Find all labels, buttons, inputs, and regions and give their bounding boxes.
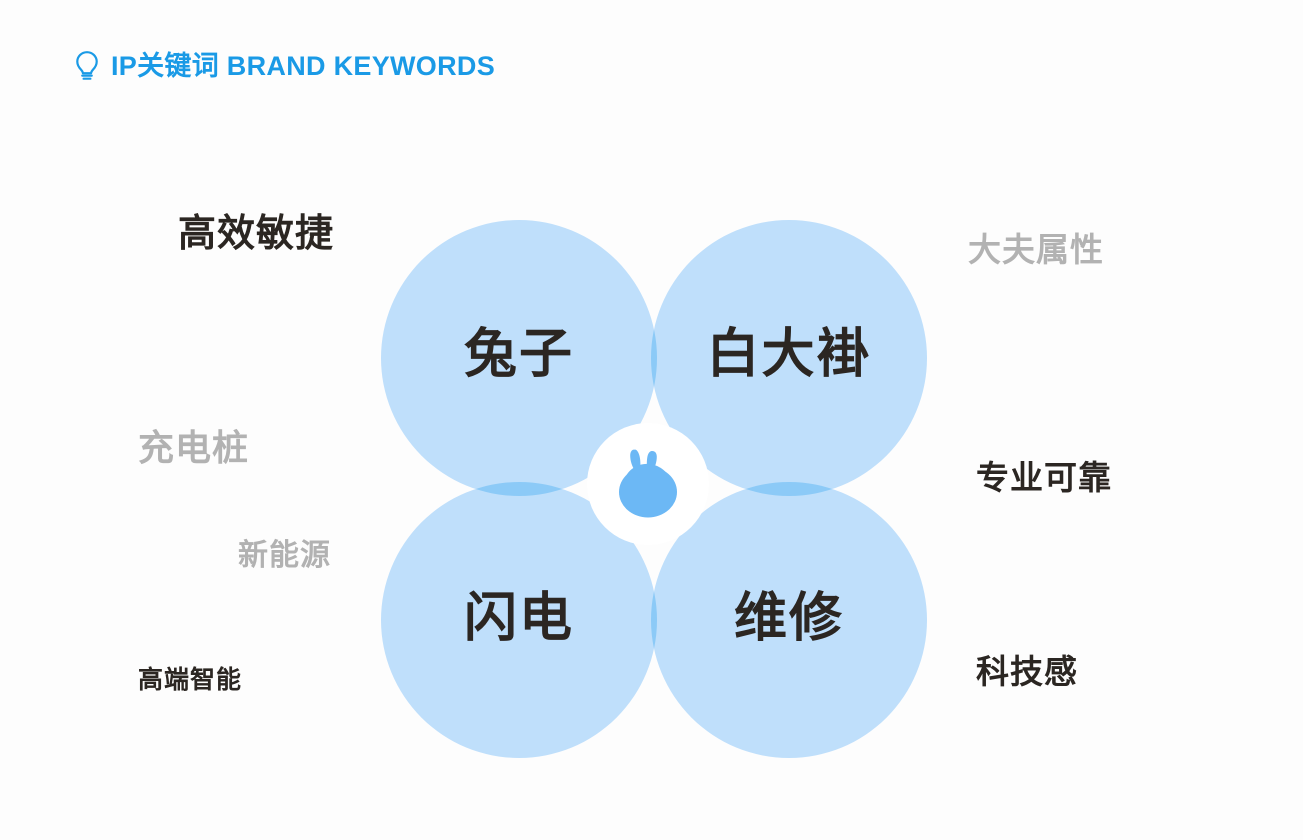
keyword-label-tech-feel: 科技感 bbox=[976, 655, 1078, 688]
keyword-label-new-energy: 新能源 bbox=[238, 541, 331, 571]
venn-label-top-left: 兔子 bbox=[464, 328, 574, 381]
keyword-label-high-efficiency: 高效敏捷 bbox=[178, 215, 334, 253]
venn-circles bbox=[0, 0, 1303, 840]
keyword-label-doctor-attribute: 大夫属性 bbox=[968, 233, 1104, 266]
keyword-label-high-end-intelligent: 高端智能 bbox=[138, 668, 242, 693]
keyword-label-professional-reliable: 专业可靠 bbox=[976, 461, 1112, 494]
venn-diagram: 兔子 白大褂 闪电 维修 bbox=[0, 0, 1303, 840]
venn-label-top-right: 白大褂 bbox=[707, 328, 872, 381]
venn-label-bottom-left: 闪电 bbox=[464, 592, 574, 645]
venn-label-bottom-right: 维修 bbox=[734, 592, 844, 645]
keyword-label-charging-pile: 充电桩 bbox=[138, 430, 249, 466]
